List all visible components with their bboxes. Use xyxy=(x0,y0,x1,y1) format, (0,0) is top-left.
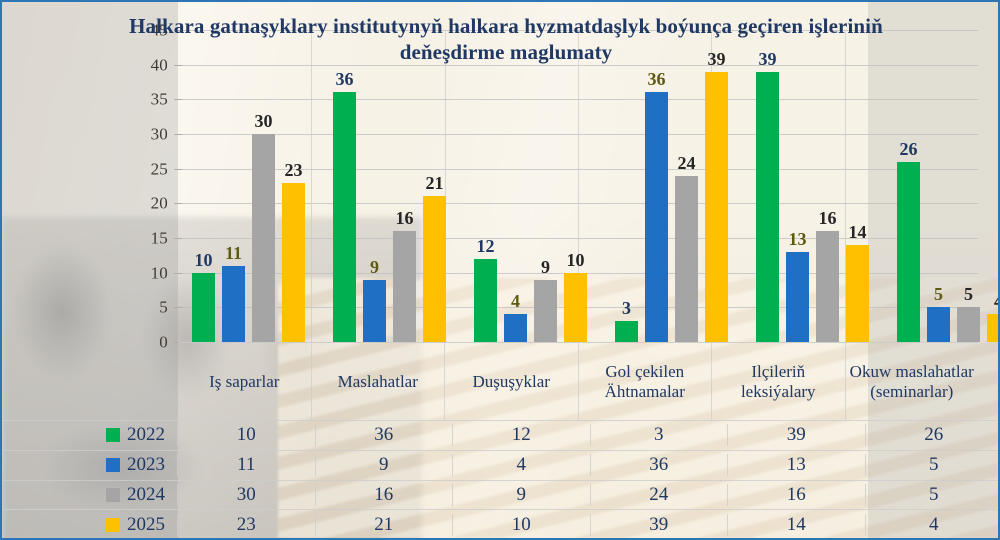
y-axis-tick-label: 20 xyxy=(151,195,168,212)
bar[interactable] xyxy=(192,273,215,342)
bar-value-label: 14 xyxy=(835,223,881,241)
bar-wrapper: 23 xyxy=(282,30,305,342)
bar-wrapper: 13 xyxy=(786,30,809,342)
bar-value-label: 23 xyxy=(271,161,317,179)
y-axis: 051015202530354045 xyxy=(124,30,174,342)
bar-wrapper: 9 xyxy=(363,30,386,342)
table-cell-value: 26 xyxy=(866,424,1000,446)
bar-wrapper: 39 xyxy=(756,30,779,342)
bar-wrapper: 10 xyxy=(192,30,215,342)
table-cell-value: 5 xyxy=(866,484,1000,506)
bar-value-label: 9 xyxy=(352,258,398,276)
y-axis-tick-label: 5 xyxy=(159,299,168,316)
plot-area: 1011302336916211249103362439391316142655… xyxy=(178,30,978,342)
y-axis-tick-mark xyxy=(174,273,182,274)
bar[interactable] xyxy=(393,231,416,342)
table-cell-value: 5 xyxy=(866,454,1000,476)
table-cell-value: 11 xyxy=(178,454,316,476)
table-cell-value: 13 xyxy=(728,454,866,476)
table-cell-value: 14 xyxy=(728,514,866,536)
y-axis-tick-label: 0 xyxy=(159,334,168,351)
legend-swatch-icon xyxy=(106,518,120,532)
category-label-3: Duşuşyklar xyxy=(445,342,579,420)
bar-wrapper: 11 xyxy=(222,30,245,342)
y-axis-tick-mark xyxy=(174,134,182,135)
legend-swatch-icon xyxy=(106,428,120,442)
legend-series-name: 2024 xyxy=(127,484,165,506)
table-cell-value: 10 xyxy=(453,514,591,536)
bar-value-label: 30 xyxy=(241,112,287,130)
bar-value-label: 4 xyxy=(493,292,539,310)
bar-value-label: 36 xyxy=(634,70,680,88)
y-axis-tick-label: 35 xyxy=(151,91,168,108)
table-row: 202523211039144 xyxy=(2,509,1000,540)
category-label-5: Ilçileriň leksiýalary xyxy=(712,342,846,420)
y-axis-tick-mark xyxy=(174,169,182,170)
bar[interactable] xyxy=(282,183,305,342)
page-title: Halkara gatnaşyklary institutynyň halkar… xyxy=(98,14,914,65)
bar-group: 3691621 xyxy=(319,30,460,342)
legend-series-name: 2025 xyxy=(127,514,165,536)
table-cell-value: 39 xyxy=(591,514,729,536)
legend-swatch-icon xyxy=(106,458,120,472)
table-cell-value: 21 xyxy=(316,514,454,536)
bar[interactable] xyxy=(675,176,698,342)
bar-group: 3362439 xyxy=(601,30,742,342)
bar[interactable] xyxy=(534,280,557,342)
legend-swatch-icon xyxy=(106,488,120,502)
table-cell-value: 39 xyxy=(728,424,866,446)
bar-wrapper: 10 xyxy=(564,30,587,342)
bar[interactable] xyxy=(957,307,980,342)
table-cell-value: 10 xyxy=(178,424,316,446)
table-cell-value: 16 xyxy=(728,484,866,506)
table-cell-value: 36 xyxy=(591,454,729,476)
y-axis-tick-label: 30 xyxy=(151,126,168,143)
category-axis-labels: Iş saparlarMaslahatlarDuşuşyklarGol çeki… xyxy=(178,342,978,420)
bar-wrapper: 16 xyxy=(816,30,839,342)
bar-group: 10113023 xyxy=(178,30,319,342)
bar-wrapper: 14 xyxy=(846,30,869,342)
legend-series-name: 2022 xyxy=(127,424,165,446)
legend-entry[interactable]: 2025 xyxy=(2,514,178,536)
legend-entry[interactable]: 2024 xyxy=(2,484,178,506)
bar[interactable] xyxy=(615,321,638,342)
table-cell-value: 3 xyxy=(591,424,729,446)
bar-value-label: 13 xyxy=(775,230,821,248)
bar[interactable] xyxy=(816,231,839,342)
bar-value-label: 21 xyxy=(412,174,458,192)
y-axis-tick-mark xyxy=(174,203,182,204)
category-label-6: Okuw maslahatlar (seminarlar) xyxy=(846,342,979,420)
bar-value-label: 3 xyxy=(604,299,650,317)
table-cell-value: 24 xyxy=(591,484,729,506)
bar-value-label: 4 xyxy=(976,292,1000,310)
bar[interactable] xyxy=(333,92,356,342)
bar-value-label: 24 xyxy=(664,154,710,172)
y-axis-tick-label: 25 xyxy=(151,160,168,177)
category-label-1: Iş saparlar xyxy=(178,342,312,420)
bar-wrapper: 4 xyxy=(987,30,1000,342)
bar-wrapper: 4 xyxy=(504,30,527,342)
bar-value-label: 11 xyxy=(211,244,257,262)
table-cell-value: 23 xyxy=(178,514,316,536)
bar-value-label: 16 xyxy=(382,209,428,227)
table-cell-value: 9 xyxy=(316,454,454,476)
bar[interactable] xyxy=(705,72,728,342)
y-axis-tick-mark xyxy=(174,99,182,100)
category-label-2: Maslahatlar xyxy=(312,342,446,420)
bar-wrapper: 36 xyxy=(333,30,356,342)
legend-entry[interactable]: 2023 xyxy=(2,454,178,476)
bar[interactable] xyxy=(504,314,527,342)
bar-group: 39131614 xyxy=(742,30,883,342)
bar-wrapper: 21 xyxy=(423,30,446,342)
table-cell-value: 4 xyxy=(453,454,591,476)
table-cell-value: 36 xyxy=(316,424,454,446)
bar-wrapper: 24 xyxy=(675,30,698,342)
bar[interactable] xyxy=(423,196,446,342)
table-row: 2023119436135 xyxy=(2,450,1000,480)
bar-group: 124910 xyxy=(460,30,601,342)
bar[interactable] xyxy=(222,266,245,342)
legend-series-name: 2023 xyxy=(127,454,165,476)
bar-groups: 1011302336916211249103362439391316142655… xyxy=(178,30,978,342)
table-cell-value: 4 xyxy=(866,514,1000,536)
bar[interactable] xyxy=(927,307,950,342)
bar-wrapper: 30 xyxy=(252,30,275,342)
bar[interactable] xyxy=(756,72,779,342)
y-axis-tick-label: 15 xyxy=(151,230,168,247)
bar-value-label: 10 xyxy=(553,251,599,269)
y-axis-tick-mark xyxy=(174,238,182,239)
bar[interactable] xyxy=(363,280,386,342)
bar-group: 26554 xyxy=(883,30,1000,342)
bar[interactable] xyxy=(987,314,1000,342)
table-row: 20243016924165 xyxy=(2,480,1000,510)
table-cell-value: 30 xyxy=(178,484,316,506)
bar[interactable] xyxy=(846,245,869,342)
bar-value-label: 12 xyxy=(463,237,509,255)
bar-wrapper: 9 xyxy=(534,30,557,342)
bar[interactable] xyxy=(897,162,920,342)
y-axis-tick-mark xyxy=(174,307,182,308)
chart-screenshot: Halkara gatnaşyklary institutynyň halkar… xyxy=(0,0,1000,540)
bar-value-label: 26 xyxy=(886,140,932,158)
legend-entry[interactable]: 2022 xyxy=(2,424,178,446)
bar[interactable] xyxy=(564,273,587,342)
bar[interactable] xyxy=(645,92,668,342)
bar-value-label: 36 xyxy=(322,70,368,88)
bar-wrapper: 36 xyxy=(645,30,668,342)
bar-wrapper: 39 xyxy=(705,30,728,342)
table-row: 202210361233926 xyxy=(2,420,1000,450)
y-axis-tick-label: 10 xyxy=(151,264,168,281)
table-cell-value: 12 xyxy=(453,424,591,446)
bar[interactable] xyxy=(786,252,809,342)
data-table: 2022103612339262023119436135202430169241… xyxy=(2,420,1000,540)
category-label-4: Gol çekilen Ähtnamalar xyxy=(579,342,713,420)
table-cell-value: 16 xyxy=(316,484,454,506)
table-cell-value: 9 xyxy=(453,484,591,506)
